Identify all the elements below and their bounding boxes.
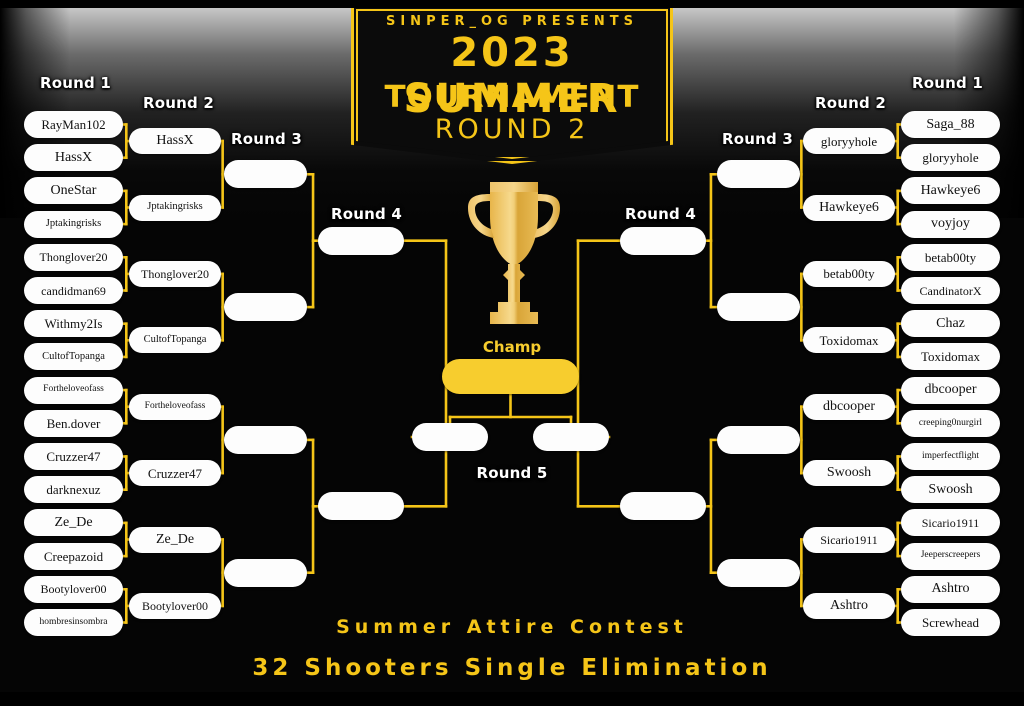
heading-left-round-3: Round 3: [231, 130, 302, 148]
player-name: Ze_De: [153, 533, 197, 547]
player-name: Jptakingrisks: [43, 219, 104, 230]
left-r1-slot-2[interactable]: HassX: [24, 144, 123, 171]
heading-center-round-5: Round 5: [0, 464, 1024, 482]
right-r1-slot-5[interactable]: betab00ty: [901, 244, 1000, 271]
left-r1-slot-1[interactable]: RayMan102: [24, 111, 123, 138]
caption-elimination-format: 32 Shooters Single Elimination: [0, 655, 1024, 681]
left-r1-slot-13[interactable]: Ze_De: [24, 509, 123, 536]
player-name: Ashtro: [827, 599, 871, 613]
player-name: imperfectflight: [919, 452, 982, 462]
player-name: Chaz: [933, 317, 968, 331]
right-r2-slot-5[interactable]: dbcooper: [803, 394, 895, 420]
player-name: Ashtro: [928, 582, 972, 596]
left-r1-slot-9[interactable]: Fortheloveofass: [24, 377, 123, 404]
left-r3-slot-2[interactable]: [224, 293, 307, 321]
right-r1-slot-2[interactable]: gloryyhole: [901, 144, 1000, 171]
heading-right-round-3: Round 3: [722, 130, 793, 148]
heading-left-round-4: Round 4: [331, 205, 402, 223]
player-name: Fortheloveofass: [142, 402, 209, 412]
trophy-icon: [458, 178, 570, 336]
round-subtitle: ROUND 2: [351, 114, 673, 145]
player-name: Saga_88: [923, 118, 977, 132]
right-r2-slot-7[interactable]: Sicario1911: [803, 527, 895, 553]
left-r1-slot-3[interactable]: OneStar: [24, 177, 123, 204]
player-name: gloryyhole: [818, 135, 880, 148]
heading-left-round-1: Round 1: [40, 74, 111, 92]
player-name: betab00ty: [922, 251, 979, 264]
player-name: dbcooper: [921, 383, 979, 397]
right-r1-slot-10[interactable]: creeping0nurgirl: [901, 410, 1000, 437]
right-r1-slot-4[interactable]: voyjoy: [901, 211, 1000, 238]
player-name: Withmy2Is: [42, 317, 106, 330]
tournament-title: TOURNAMENT: [346, 80, 678, 115]
right-r3-slot-3[interactable]: [717, 426, 800, 454]
left-r2-slot-1[interactable]: HassX: [129, 128, 221, 154]
player-name: Bootylover00: [139, 600, 211, 612]
player-name: OneStar: [48, 184, 100, 198]
player-name: Ze_De: [51, 516, 95, 530]
right-r1-slot-7[interactable]: Chaz: [901, 310, 1000, 337]
right-r1-slot-15[interactable]: Ashtro: [901, 576, 1000, 603]
player-name: voyjoy: [928, 217, 973, 231]
final-slot-left[interactable]: [412, 423, 488, 451]
right-r4-slot-2[interactable]: [620, 492, 706, 520]
player-name: Sicario1911: [919, 517, 983, 529]
final-slot-right[interactable]: [533, 423, 609, 451]
caption-attire-contest: Summer Attire Contest: [0, 616, 1024, 638]
title-plaque: SINPER_OG PRESENTS 2023 SUMMER TOURNAMEN…: [351, 4, 673, 164]
left-r1-slot-15[interactable]: Bootylover00: [24, 576, 123, 603]
left-r4-slot-2[interactable]: [318, 492, 404, 520]
player-name: darknexuz: [43, 483, 103, 496]
left-r1-slot-6[interactable]: candidman69: [24, 277, 123, 304]
player-name: Thonglover20: [138, 268, 212, 280]
player-name: Bootylover00: [38, 583, 110, 595]
right-r3-slot-2[interactable]: [717, 293, 800, 321]
left-r3-slot-1[interactable]: [224, 160, 307, 188]
player-name: Swoosh: [925, 483, 975, 497]
player-name: HassX: [153, 134, 196, 148]
left-r1-slot-5[interactable]: Thonglover20: [24, 244, 123, 271]
right-r3-slot-1[interactable]: [717, 160, 800, 188]
left-r3-slot-3[interactable]: [224, 426, 307, 454]
heading-right-round-4: Round 4: [625, 205, 696, 223]
player-name: HassX: [52, 151, 95, 165]
presents-text: SINPER_OG PRESENTS: [351, 14, 673, 29]
right-r1-slot-14[interactable]: Jeeperscreepers: [901, 543, 1000, 570]
left-r4-slot-1[interactable]: [318, 227, 404, 255]
bracket-canvas: RayMan102HassXOneStarJptakingrisksThongl…: [0, 0, 1024, 706]
player-name: candidman69: [38, 285, 109, 297]
right-r2-slot-1[interactable]: gloryyhole: [803, 128, 895, 154]
left-r1-slot-4[interactable]: Jptakingrisks: [24, 211, 123, 238]
player-name: Fortheloveofass: [40, 385, 107, 395]
player-name: creeping0nurgirl: [916, 419, 985, 429]
champion-slot[interactable]: [442, 359, 579, 394]
player-name: Thonglover20: [37, 251, 111, 263]
right-r2-slot-2[interactable]: Hawkeye6: [803, 195, 895, 221]
right-r1-slot-1[interactable]: Saga_88: [901, 111, 1000, 138]
player-name: Hawkeye6: [918, 184, 984, 198]
left-r2-slot-8[interactable]: Bootylover00: [129, 593, 221, 619]
left-r2-slot-2[interactable]: Jptakingrisks: [129, 195, 221, 221]
player-name: RayMan102: [38, 118, 108, 131]
champ-label: Champ: [0, 338, 1024, 356]
player-name: Ben.dover: [44, 417, 104, 430]
left-r2-slot-3[interactable]: Thonglover20: [129, 261, 221, 287]
left-r1-slot-14[interactable]: Creepazoid: [24, 543, 123, 570]
letterbox-bottom: [0, 692, 1024, 706]
right-r3-slot-4[interactable]: [717, 559, 800, 587]
left-r1-slot-7[interactable]: Withmy2Is: [24, 310, 123, 337]
player-name: gloryyhole: [919, 151, 981, 164]
player-name: Cruzzer47: [43, 450, 103, 463]
heading-right-round-2: Round 2: [815, 94, 886, 112]
right-r2-slot-3[interactable]: betab00ty: [803, 261, 895, 287]
right-r1-slot-3[interactable]: Hawkeye6: [901, 177, 1000, 204]
left-r3-slot-4[interactable]: [224, 559, 307, 587]
player-name: Hawkeye6: [816, 201, 882, 215]
player-name: Creepazoid: [41, 550, 106, 563]
player-name: CandinatorX: [917, 285, 985, 297]
heading-right-round-1: Round 1: [912, 74, 983, 92]
letterbox-top: [0, 0, 1024, 8]
left-r2-slot-7[interactable]: Ze_De: [129, 527, 221, 553]
right-r4-slot-1[interactable]: [620, 227, 706, 255]
player-name: Jeeperscreepers: [918, 551, 984, 561]
right-r2-slot-8[interactable]: Ashtro: [803, 593, 895, 619]
left-r2-slot-5[interactable]: Fortheloveofass: [129, 394, 221, 420]
player-name: Jptakingrisks: [144, 202, 205, 213]
player-name: dbcooper: [820, 400, 878, 414]
right-r1-slot-9[interactable]: dbcooper: [901, 377, 1000, 404]
heading-left-round-2: Round 2: [143, 94, 214, 112]
left-r1-slot-10[interactable]: Ben.dover: [24, 410, 123, 437]
player-name: Sicario1911: [817, 534, 881, 546]
player-name: betab00ty: [820, 267, 877, 280]
right-r1-slot-6[interactable]: CandinatorX: [901, 277, 1000, 304]
right-r1-slot-13[interactable]: Sicario1911: [901, 509, 1000, 536]
